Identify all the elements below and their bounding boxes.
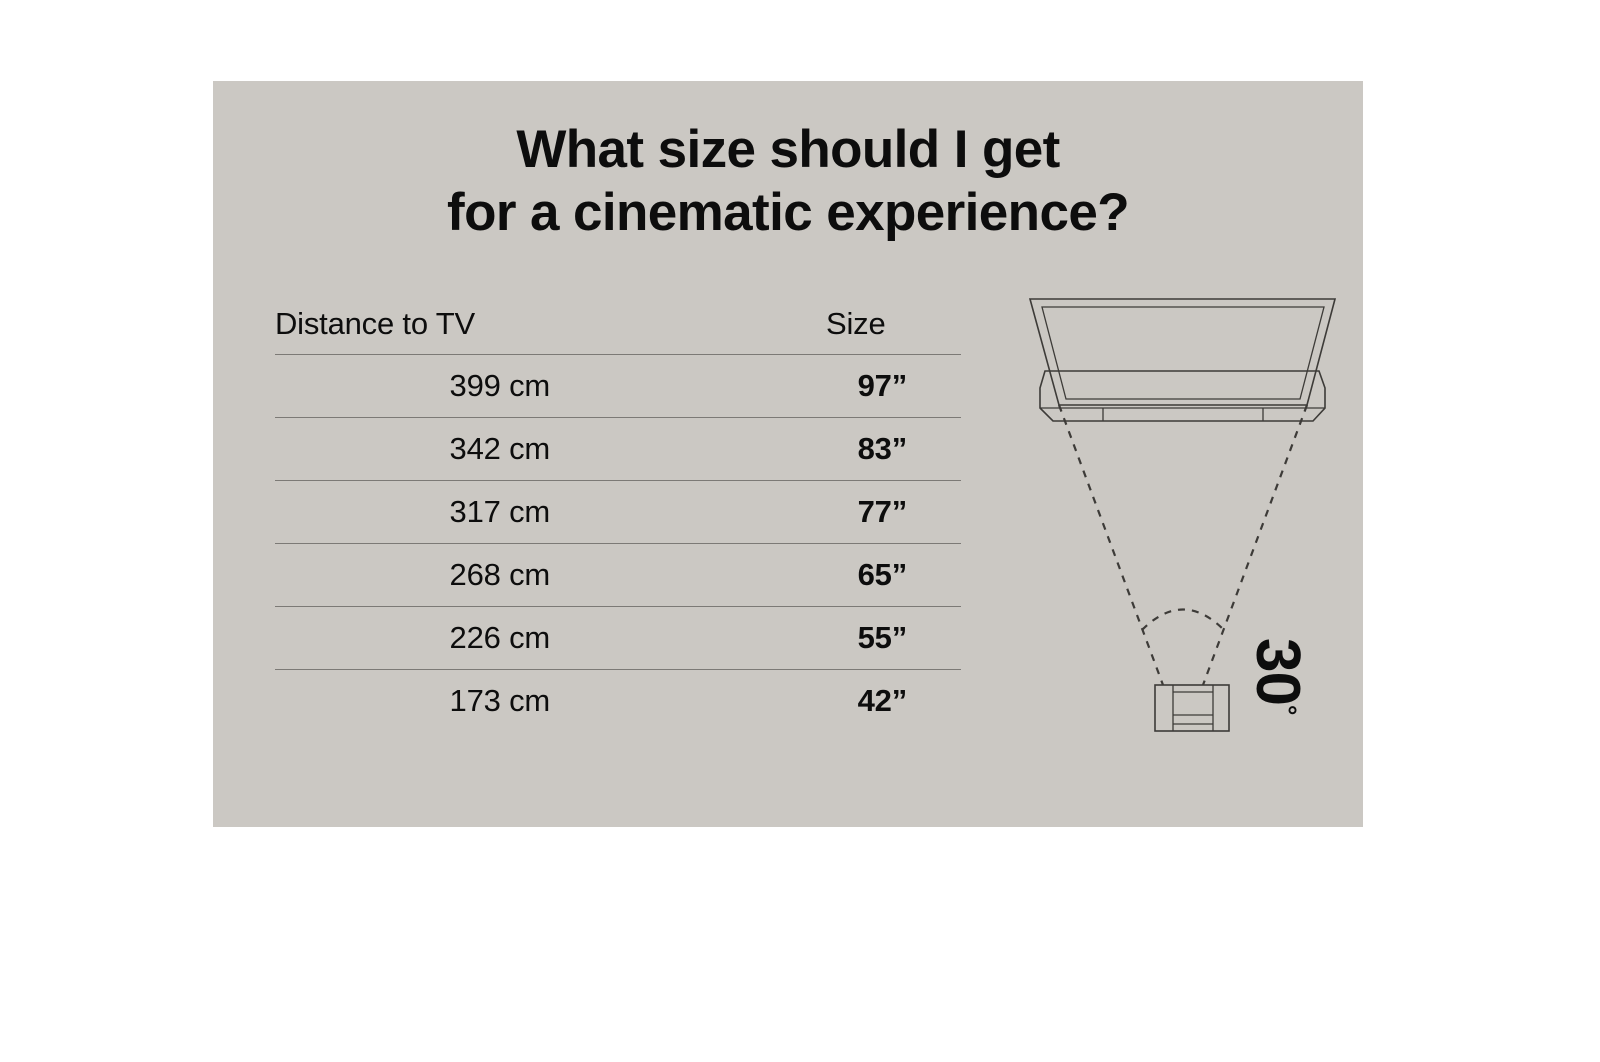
cell-distance: 173 cm (275, 683, 550, 719)
cell-distance: 317 cm (275, 494, 550, 530)
table-row: 226 cm 55” (275, 607, 961, 669)
cell-size: 83” (550, 431, 961, 467)
table-row: 317 cm 77” (275, 481, 961, 543)
sofa-icon (1155, 685, 1229, 731)
column-header-size: Size (550, 306, 961, 342)
tv-screen-icon (1030, 299, 1335, 405)
table-row: 173 cm 42” (275, 670, 961, 732)
cell-distance: 268 cm (275, 557, 550, 593)
cell-size: 42” (550, 683, 961, 719)
cell-size: 77” (550, 494, 961, 530)
column-header-distance: Distance to TV (275, 306, 550, 342)
viewing-angle-diagram: 30° (1013, 293, 1353, 743)
cell-distance: 399 cm (275, 368, 550, 404)
table-row: 399 cm 97” (275, 355, 961, 417)
title-line-2: for a cinematic experience? (213, 182, 1363, 245)
cell-size: 97” (550, 368, 961, 404)
viewing-angle-label: 30° (1242, 638, 1313, 714)
table-row: 268 cm 65” (275, 544, 961, 606)
table-row: 342 cm 83” (275, 418, 961, 480)
angle-value: 30 (1243, 638, 1312, 705)
info-panel: What size should I get for a cinematic e… (213, 81, 1363, 827)
degree-symbol-icon: ° (1273, 705, 1303, 714)
tv-stand-icon (1040, 371, 1325, 421)
cell-distance: 342 cm (275, 431, 550, 467)
table-header-row: Distance to TV Size (275, 294, 961, 354)
cell-size: 55” (550, 620, 961, 656)
cell-size: 65” (550, 557, 961, 593)
title-line-1: What size should I get (213, 119, 1363, 182)
page-title: What size should I get for a cinematic e… (213, 119, 1363, 244)
cell-distance: 226 cm (275, 620, 550, 656)
size-table: Distance to TV Size 399 cm 97” 342 cm 83… (275, 294, 961, 732)
